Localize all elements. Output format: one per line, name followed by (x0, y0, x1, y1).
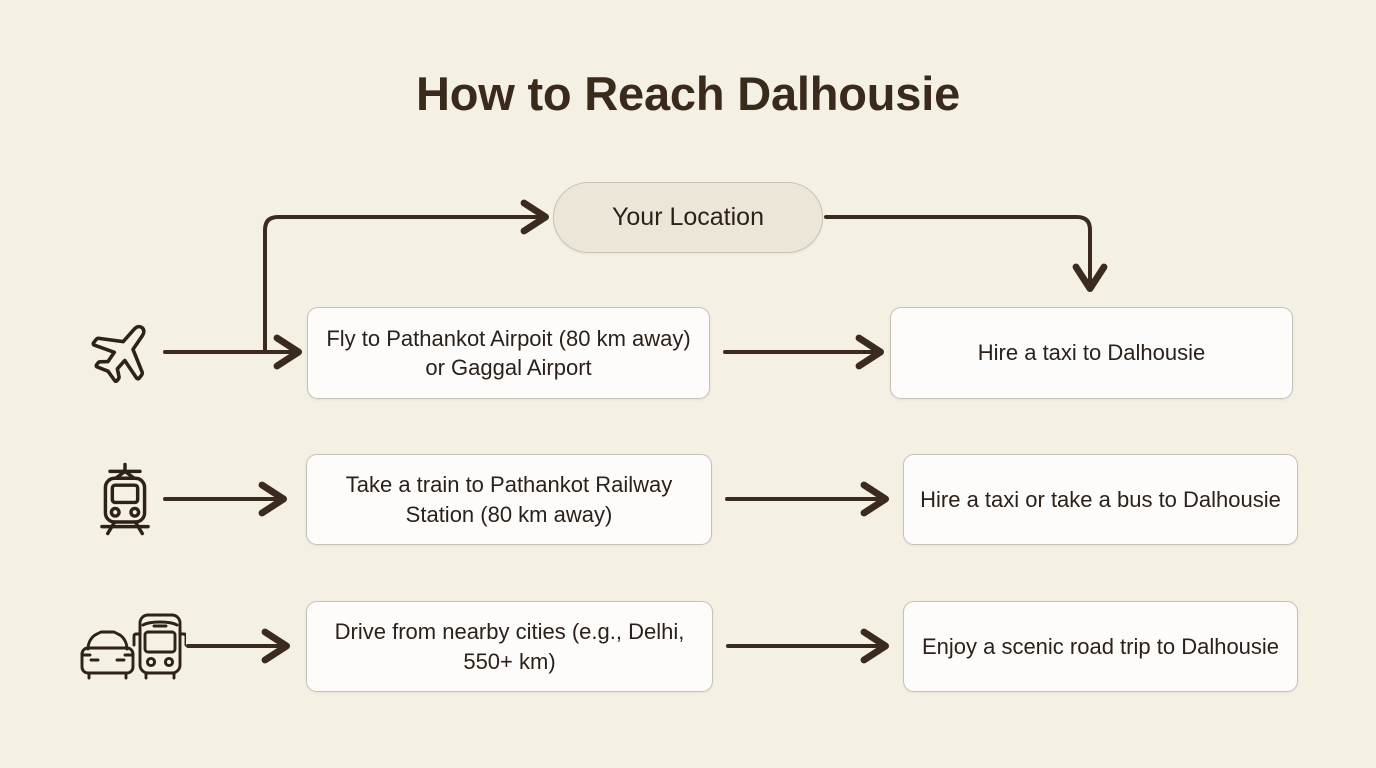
result-node-air[interactable]: Hire a taxi to Dalhousie (890, 307, 1293, 399)
car-bus-icon (68, 605, 188, 687)
result-node-road[interactable]: Enjoy a scenic road trip to Dalhousie (903, 601, 1298, 692)
connector-your-location-to-air-result (826, 217, 1090, 287)
diagram-canvas: How to Reach Dalhousie Your Location (0, 0, 1376, 768)
step-node-road[interactable]: Drive from nearby cities (e.g., Delhi, 5… (306, 601, 713, 692)
bus-glyph (134, 615, 186, 678)
step-node-air-label: Fly to Pathankot Airpoit (80 km away) or… (322, 324, 695, 382)
train-icon (85, 455, 165, 543)
car-glyph (82, 632, 133, 678)
step-node-air[interactable]: Fly to Pathankot Airpoit (80 km away) or… (307, 307, 710, 399)
step-node-road-label: Drive from nearby cities (e.g., Delhi, 5… (321, 617, 698, 675)
step-node-rail-label: Take a train to Pathankot Railway Statio… (321, 470, 697, 528)
airplane-icon (82, 310, 164, 394)
step-node-rail[interactable]: Take a train to Pathankot Railway Statio… (306, 454, 712, 545)
start-node-label: Your Location (612, 203, 764, 232)
result-node-air-label: Hire a taxi to Dalhousie (978, 338, 1205, 367)
result-node-rail[interactable]: Hire a taxi or take a bus to Dalhousie (903, 454, 1298, 545)
result-node-road-label: Enjoy a scenic road trip to Dalhousie (922, 632, 1279, 661)
result-node-rail-label: Hire a taxi or take a bus to Dalhousie (920, 485, 1281, 514)
start-node-your-location[interactable]: Your Location (553, 182, 823, 253)
